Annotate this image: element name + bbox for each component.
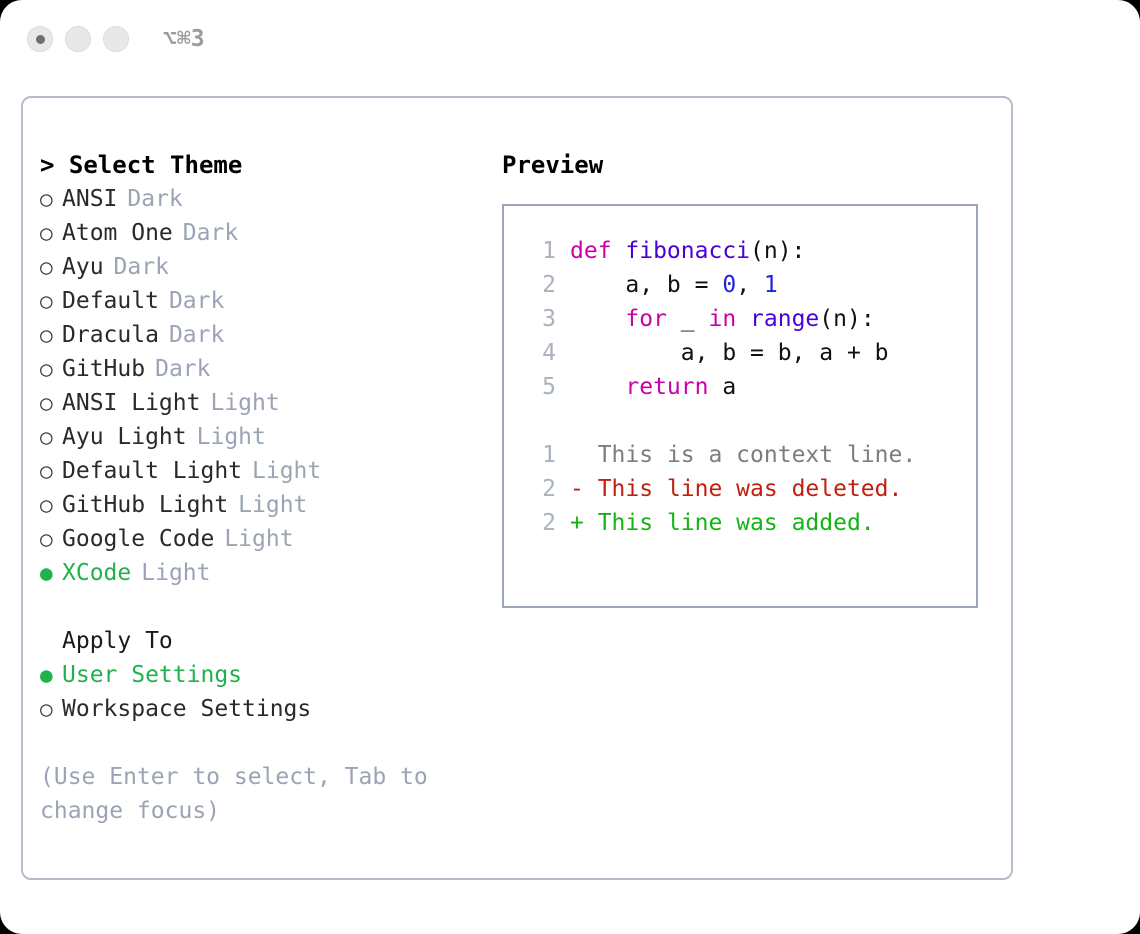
code-token: fibonacci	[625, 238, 750, 264]
code-token: a, b =	[570, 272, 722, 298]
theme-option-label: ANSI	[62, 182, 117, 216]
radio-unselected-icon[interactable]: ○	[40, 488, 62, 522]
theme-option-row[interactable]: ○ANSIDark	[40, 182, 480, 216]
code-line-content: a, b = b, a + b	[570, 336, 889, 370]
code-preview: 1def fibonacci(n):2 a, b = 0, 13 for _ i…	[526, 234, 976, 404]
apply-to-option-label: User Settings	[62, 658, 242, 692]
apply-to-list[interactable]: ●User Settings○Workspace Settings	[40, 658, 480, 726]
preview-panel: Preview 1def fibonacci(n):2 a, b = 0, 13…	[502, 148, 992, 608]
theme-option-label: GitHub	[62, 352, 145, 386]
theme-option-label: Default	[62, 284, 159, 318]
theme-option-tag: Light	[224, 522, 293, 556]
window-light-icon-3[interactable]	[103, 26, 129, 52]
code-token: def	[570, 238, 625, 264]
theme-option-tag: Light	[238, 488, 307, 522]
theme-option-label: Dracula	[62, 318, 159, 352]
panel-title-select-theme: > Select Theme	[40, 148, 480, 182]
keyboard-shortcut-label: ⌥⌘3	[163, 26, 205, 52]
theme-option-label: Google Code	[62, 522, 214, 556]
theme-option-tag: Light	[252, 454, 321, 488]
diff-line-content: + This line was added.	[570, 506, 875, 540]
code-token: (n):	[819, 306, 874, 332]
diff-line: 2+ This line was added.	[526, 506, 976, 540]
theme-option-row[interactable]: ○DefaultDark	[40, 284, 480, 318]
apply-to-option-label: Workspace Settings	[62, 692, 311, 726]
theme-option-tag: Dark	[183, 216, 238, 250]
preview-title: Preview	[502, 148, 992, 182]
theme-option-tag: Light	[197, 420, 266, 454]
theme-option-tag: Dark	[169, 318, 224, 352]
code-token	[570, 306, 625, 332]
theme-option-tag: Dark	[127, 182, 182, 216]
radio-unselected-icon[interactable]: ○	[40, 250, 62, 284]
code-token	[570, 374, 625, 400]
code-token	[736, 306, 750, 332]
radio-unselected-icon[interactable]: ○	[40, 182, 62, 216]
code-line: 4 a, b = b, a + b	[526, 336, 976, 370]
diff-line-number: 1	[526, 438, 556, 472]
theme-list[interactable]: ○ANSIDark○Atom OneDark○AyuDark○DefaultDa…	[40, 182, 480, 590]
code-token: 1	[764, 272, 778, 298]
diff-text: This line was added.	[598, 510, 875, 536]
theme-selector-panel: > Select Theme ○ANSIDark○Atom OneDark○Ay…	[40, 148, 480, 828]
theme-option-label: Default Light	[62, 454, 242, 488]
diff-line-content: - This line was deleted.	[570, 472, 902, 506]
code-line: 5 return a	[526, 370, 976, 404]
main-card: > Select Theme ○ANSIDark○Atom OneDark○Ay…	[21, 96, 1013, 880]
code-token: ,	[736, 272, 764, 298]
diff-line-number: 2	[526, 506, 556, 540]
theme-option-row[interactable]: ○DraculaDark	[40, 318, 480, 352]
code-token: _	[667, 306, 709, 332]
theme-option-tag: Light	[141, 556, 210, 590]
code-line-number: 2	[526, 268, 556, 302]
diff-text: This is a context line.	[598, 442, 917, 468]
code-token: return	[625, 374, 708, 400]
preview-box: 1def fibonacci(n):2 a, b = 0, 13 for _ i…	[502, 204, 978, 608]
code-line: 3 for _ in range(n):	[526, 302, 976, 336]
radio-unselected-icon[interactable]: ○	[40, 420, 62, 454]
window-controls	[27, 26, 129, 52]
theme-option-row[interactable]: ○ANSI LightLight	[40, 386, 480, 420]
app-window: ⌥⌘3 > Select Theme ○ANSIDark○Atom OneDar…	[0, 0, 1140, 934]
code-token: 0	[722, 272, 736, 298]
radio-selected-icon[interactable]: ●	[40, 556, 62, 590]
code-line-content: def fibonacci(n):	[570, 234, 805, 268]
diff-marker: +	[570, 510, 598, 536]
radio-selected-icon[interactable]: ●	[40, 658, 62, 692]
theme-option-label: Ayu	[62, 250, 104, 284]
diff-preview: 1 This is a context line.2- This line wa…	[526, 438, 976, 540]
radio-unselected-icon[interactable]: ○	[40, 284, 62, 318]
window-light-icon-2[interactable]	[65, 26, 91, 52]
diff-line-number: 2	[526, 472, 556, 506]
code-token: range	[750, 306, 819, 332]
code-token: in	[708, 306, 736, 332]
theme-option-tag: Dark	[155, 352, 210, 386]
theme-option-row[interactable]: ○AyuDark	[40, 250, 480, 284]
theme-option-label: Ayu Light	[62, 420, 187, 454]
apply-to-title: Apply To	[40, 624, 480, 658]
title-bar: ⌥⌘3	[0, 0, 1140, 78]
code-line-number: 1	[526, 234, 556, 268]
diff-line-content: This is a context line.	[570, 438, 916, 472]
radio-unselected-icon[interactable]: ○	[40, 522, 62, 556]
radio-unselected-icon[interactable]: ○	[40, 454, 62, 488]
theme-option-tag: Dark	[169, 284, 224, 318]
theme-option-label: ANSI Light	[62, 386, 200, 420]
code-line-number: 4	[526, 336, 556, 370]
apply-to-option-row[interactable]: ●User Settings	[40, 658, 480, 692]
radio-unselected-icon[interactable]: ○	[40, 352, 62, 386]
radio-unselected-icon[interactable]: ○	[40, 216, 62, 250]
code-token: for	[625, 306, 667, 332]
radio-unselected-icon[interactable]: ○	[40, 386, 62, 420]
diff-marker	[570, 442, 598, 468]
diff-line: 1 This is a context line.	[526, 438, 976, 472]
theme-option-label: Atom One	[62, 216, 173, 250]
radio-unselected-icon[interactable]: ○	[40, 318, 62, 352]
keyboard-hint-text: (Use Enter to select, Tab to change focu…	[40, 760, 444, 828]
theme-option-row[interactable]: ○Atom OneDark	[40, 216, 480, 250]
code-line-content: a, b = 0, 1	[570, 268, 778, 302]
theme-option-row[interactable]: ○GitHub LightLight	[40, 488, 480, 522]
theme-option-row[interactable]: ○Default LightLight	[40, 454, 480, 488]
theme-option-row[interactable]: ○GitHubDark	[40, 352, 480, 386]
window-light-active-icon[interactable]	[27, 26, 53, 52]
code-token: a, b = b, a + b	[570, 340, 889, 366]
theme-option-row[interactable]: ○Ayu LightLight	[40, 420, 480, 454]
code-line-number: 5	[526, 370, 556, 404]
apply-to-option-row[interactable]: ○Workspace Settings	[40, 692, 480, 726]
code-line-content: for _ in range(n):	[570, 302, 875, 336]
diff-line: 2- This line was deleted.	[526, 472, 976, 506]
code-token: (n):	[750, 238, 805, 264]
theme-option-row[interactable]: ○Google CodeLight	[40, 522, 480, 556]
theme-option-tag: Light	[210, 386, 279, 420]
code-line-content: return a	[570, 370, 736, 404]
theme-option-label: GitHub Light	[62, 488, 228, 522]
theme-option-tag: Dark	[114, 250, 169, 284]
diff-marker: -	[570, 476, 598, 502]
code-line: 1def fibonacci(n):	[526, 234, 976, 268]
code-line: 2 a, b = 0, 1	[526, 268, 976, 302]
code-line-number: 3	[526, 302, 556, 336]
code-token: a	[708, 374, 736, 400]
radio-unselected-icon[interactable]: ○	[40, 692, 62, 726]
theme-option-row[interactable]: ●XCodeLight	[40, 556, 480, 590]
theme-option-label: XCode	[62, 556, 131, 590]
diff-text: This line was deleted.	[598, 476, 903, 502]
